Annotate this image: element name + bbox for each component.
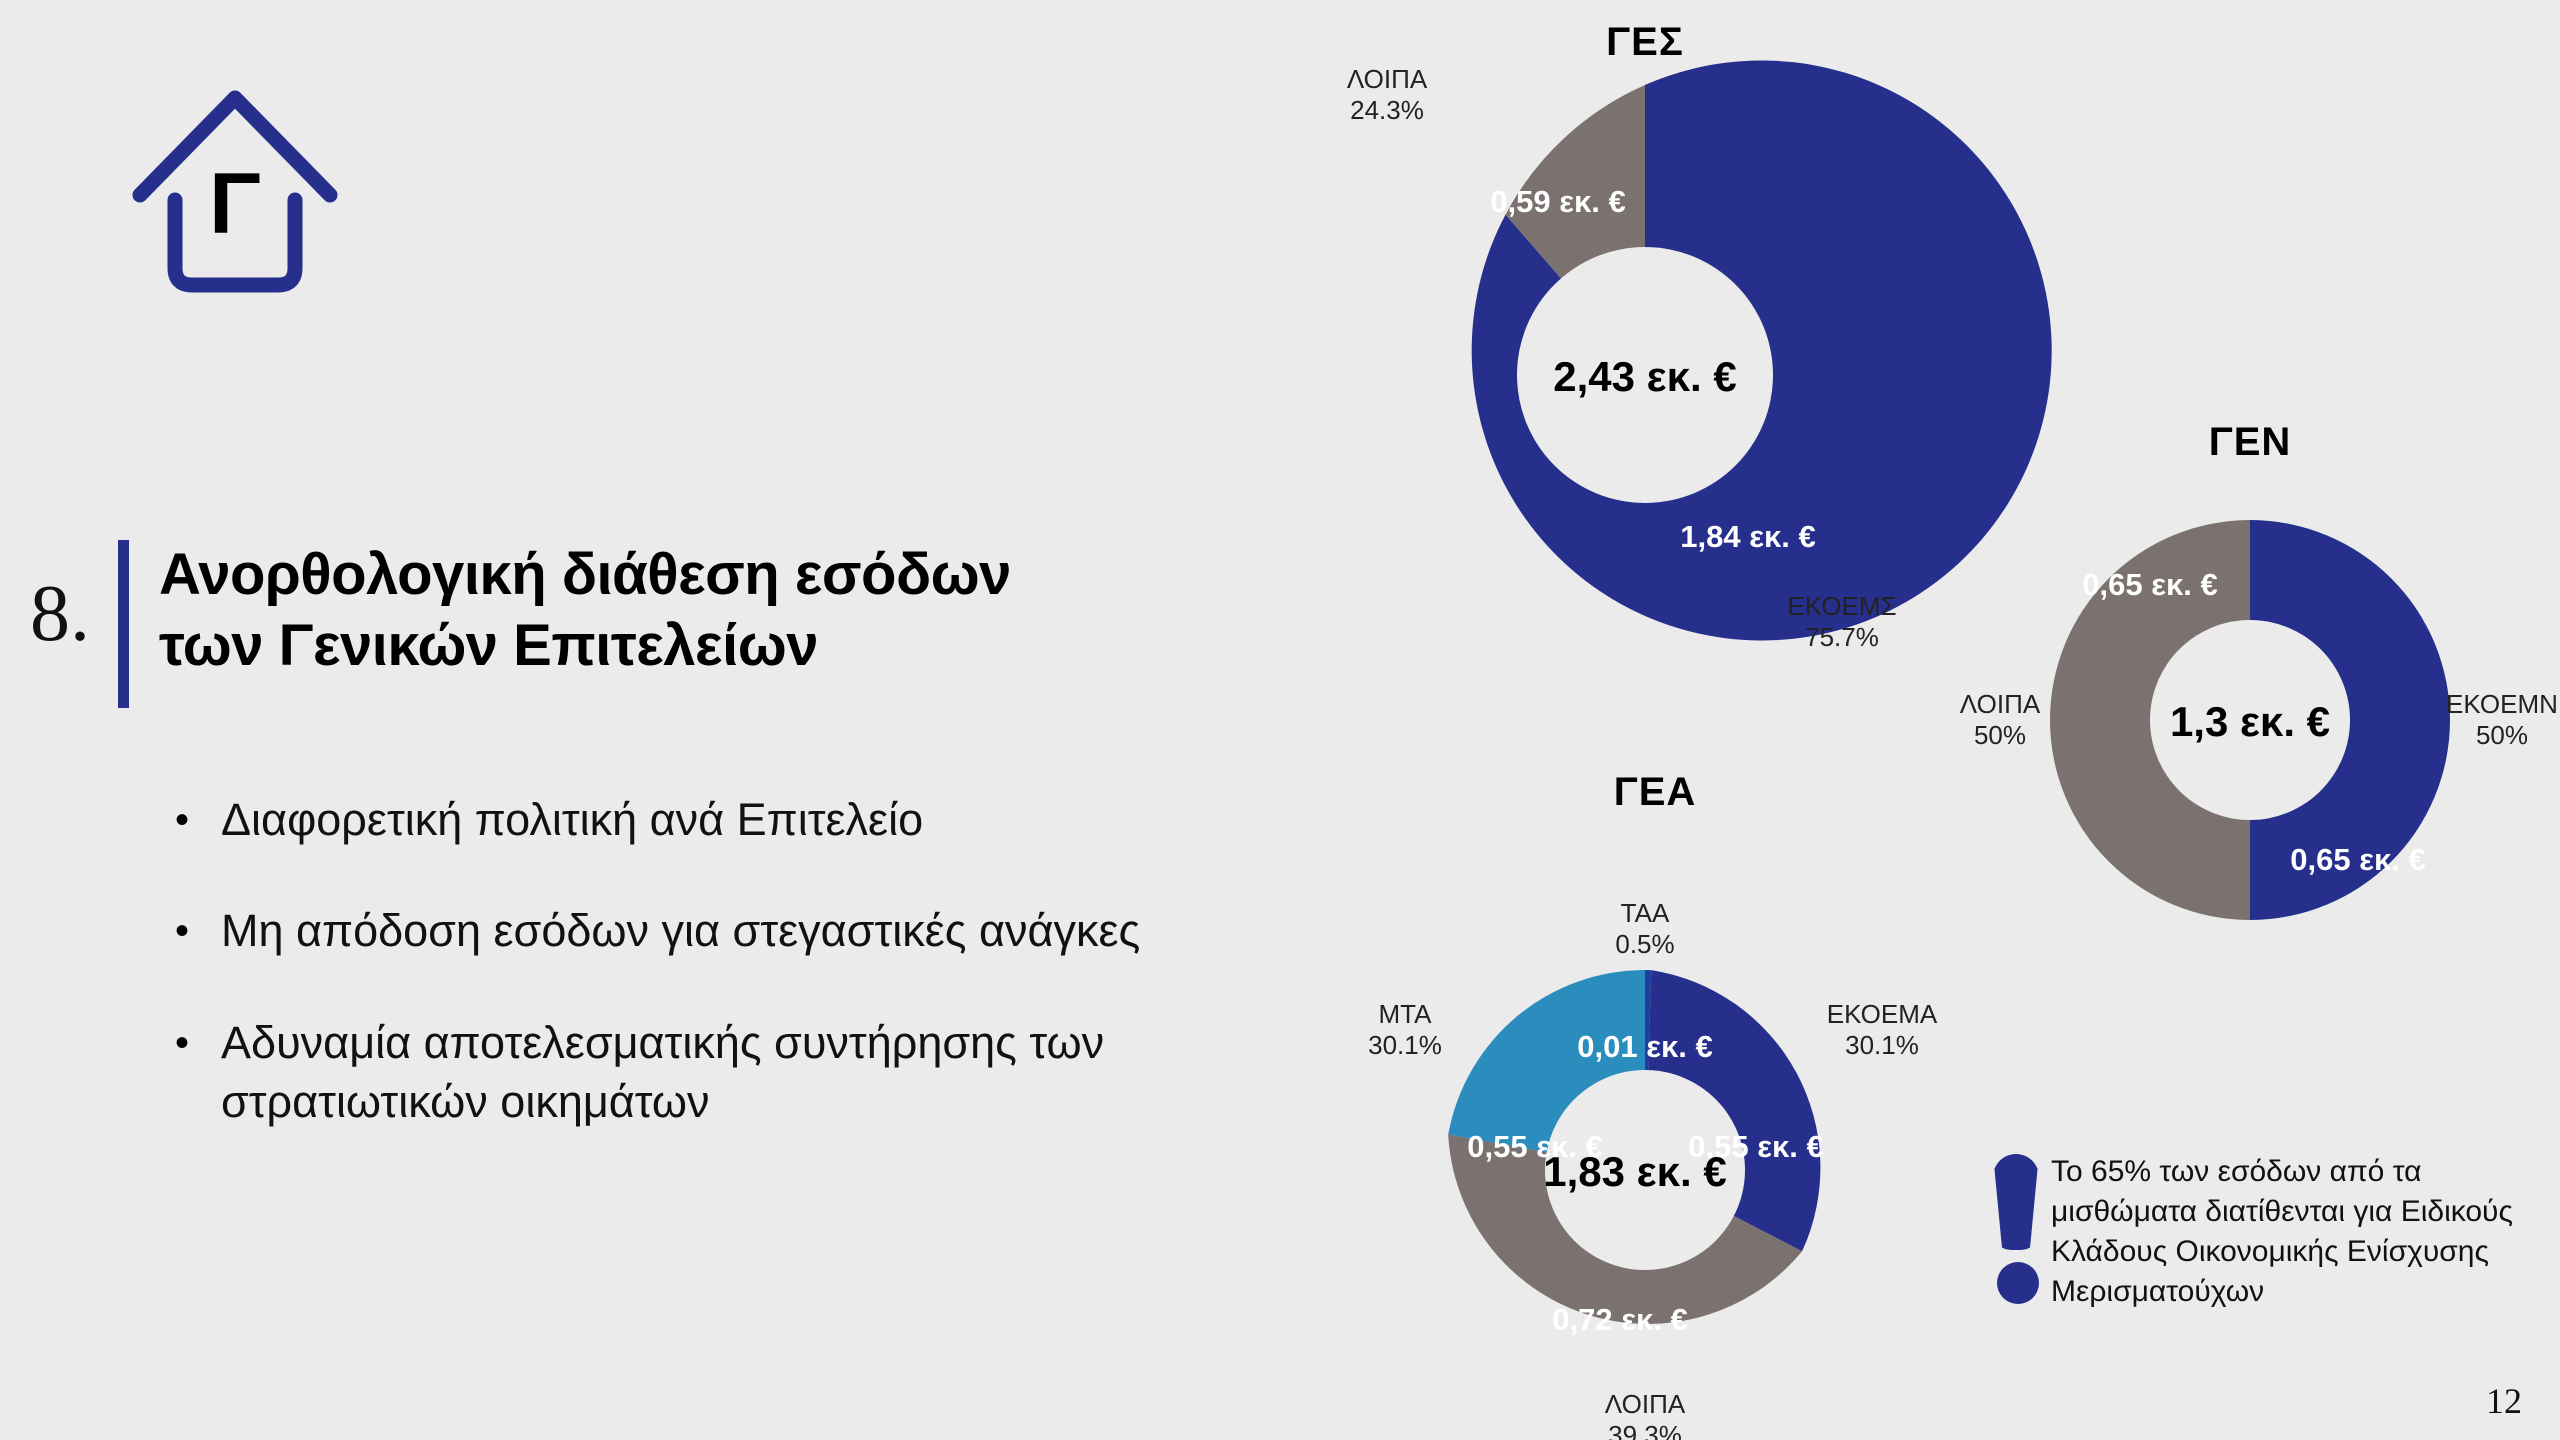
bullet-dot-icon: • (175, 790, 221, 849)
slice-percent-mta: 30.1% (1368, 1030, 1442, 1060)
center-total-ges: 2,43 εκ. € (1355, 353, 1935, 401)
chart-title-gen: ΓΕΝ (1950, 420, 2550, 465)
list-item: • Διαφορετική πολιτική ανά Επιτελείο (175, 790, 1355, 849)
heading-accent-bar (118, 540, 129, 708)
slice-value-loipa: 0,59 εκ. € (1490, 184, 1625, 219)
slice-label-ekoema: ΕΚΟΕΜΑ (1827, 999, 1938, 1029)
slice-value-ekoemn: 0,65 εκ. € (2290, 842, 2425, 877)
donut-svg-gea: 0,01 εκ. € 0,55 εκ. € 0,72 εκ. € 0,55 εκ… (1355, 770, 1955, 1410)
slice-percent-loipa: 39.3% (1608, 1420, 1682, 1440)
slice-label-mta: ΜΤΑ (1379, 999, 1433, 1029)
callout-note: Το 65% των εσόδων από τα μισθώματα διατί… (1985, 1150, 2530, 1330)
slide: Γ 8. Ανορθολογική διάθεση εσόδων των Γεν… (0, 0, 2560, 1440)
callout-text: Το 65% των εσόδων από τα μισθώματα διατί… (2051, 1150, 2530, 1330)
exclamation-dot (1997, 1262, 2039, 1304)
donut-svg-ges: 1,84 εκ. € 0,59 εκ. € ΕΚΟΕΜΣ 75.7% ΛΟΙΠΑ… (1355, 20, 1935, 640)
heading-number: 8. (30, 540, 118, 654)
chart-title-gea: ΓΕΑ (1355, 770, 1955, 815)
bullet-dot-icon: • (175, 1013, 221, 1132)
list-item: • Αδυναμία αποτελεσματικής συντήρησης τω… (175, 1013, 1355, 1132)
bullet-text: Διαφορετική πολιτική ανά Επιτελείο (221, 790, 923, 849)
house-icon-letter: Γ (209, 156, 261, 252)
exclamation-stem (1993, 1154, 2039, 1250)
center-total-gea: 1,83 εκ. € (1335, 1148, 1935, 1196)
exclamation-icon (1985, 1150, 2051, 1330)
list-item: • Μη απόδοση εσόδων για στεγαστικές ανάγ… (175, 901, 1355, 960)
house-gamma-icon: Γ (120, 40, 350, 320)
bullet-dot-icon: • (175, 901, 221, 960)
slice-percent-taa: 0.5% (1615, 929, 1674, 959)
slice-percent-loipa: 24.3% (1350, 95, 1424, 125)
center-total-gen: 1,3 εκ. € (1950, 698, 2550, 746)
page-number: 12 (2486, 1380, 2522, 1422)
slice-percent-ekoems: 75.7% (1805, 622, 1879, 652)
donut-chart-gen: ΓΕΝ 0,65 εκ. € 0,65 εκ. € ΕΚΟΕΜΝ 50% ΛΟΙ… (1950, 420, 2550, 980)
heading-text: Ανορθολογική διάθεση εσόδων των Γενικών … (159, 540, 1011, 682)
slice-label-loipa: ΛΟΙΠΑ (1347, 64, 1428, 94)
slice-value-taa: 0,01 εκ. € (1577, 1029, 1712, 1064)
slice-percent-ekoema: 30.1% (1845, 1030, 1919, 1060)
donut-chart-gea: ΓΕΑ 0,01 εκ. € 0,55 εκ. € 0,72 εκ. € 0,5… (1355, 770, 1955, 1410)
slice-value-loipa: 0,65 εκ. € (2082, 567, 2217, 602)
bullet-text: Μη απόδοση εσόδων για στεγαστικές ανάγκε… (221, 901, 1140, 960)
slice-label-ekoems: ΕΚΟΕΜΣ (1787, 591, 1896, 621)
donut-chart-ges: ΓΕΣ 1,84 εκ. € 0,59 εκ. € ΕΚΟΕΜΣ 75.7% Λ… (1355, 20, 1935, 640)
heading-line-1: Ανορθολογική διάθεση εσόδων (159, 540, 1011, 611)
chart-title-ges: ΓΕΣ (1355, 20, 1935, 65)
slice-label-taa: ΤΑΑ (1621, 898, 1670, 928)
slice-label-loipa: ΛΟΙΠΑ (1605, 1389, 1686, 1419)
bullet-list: • Διαφορετική πολιτική ανά Επιτελείο • Μ… (175, 790, 1355, 1184)
slice-value-loipa: 0,72 εκ. € (1552, 1302, 1687, 1337)
heading-line-2: των Γενικών Επιτελείων (159, 611, 1011, 682)
page-title: 8. Ανορθολογική διάθεση εσόδων των Γενικ… (30, 540, 1280, 708)
bullet-text: Αδυναμία αποτελεσματικής συντήρησης των … (221, 1013, 1355, 1132)
slice-value-ekoems: 1,84 εκ. € (1680, 519, 1815, 554)
